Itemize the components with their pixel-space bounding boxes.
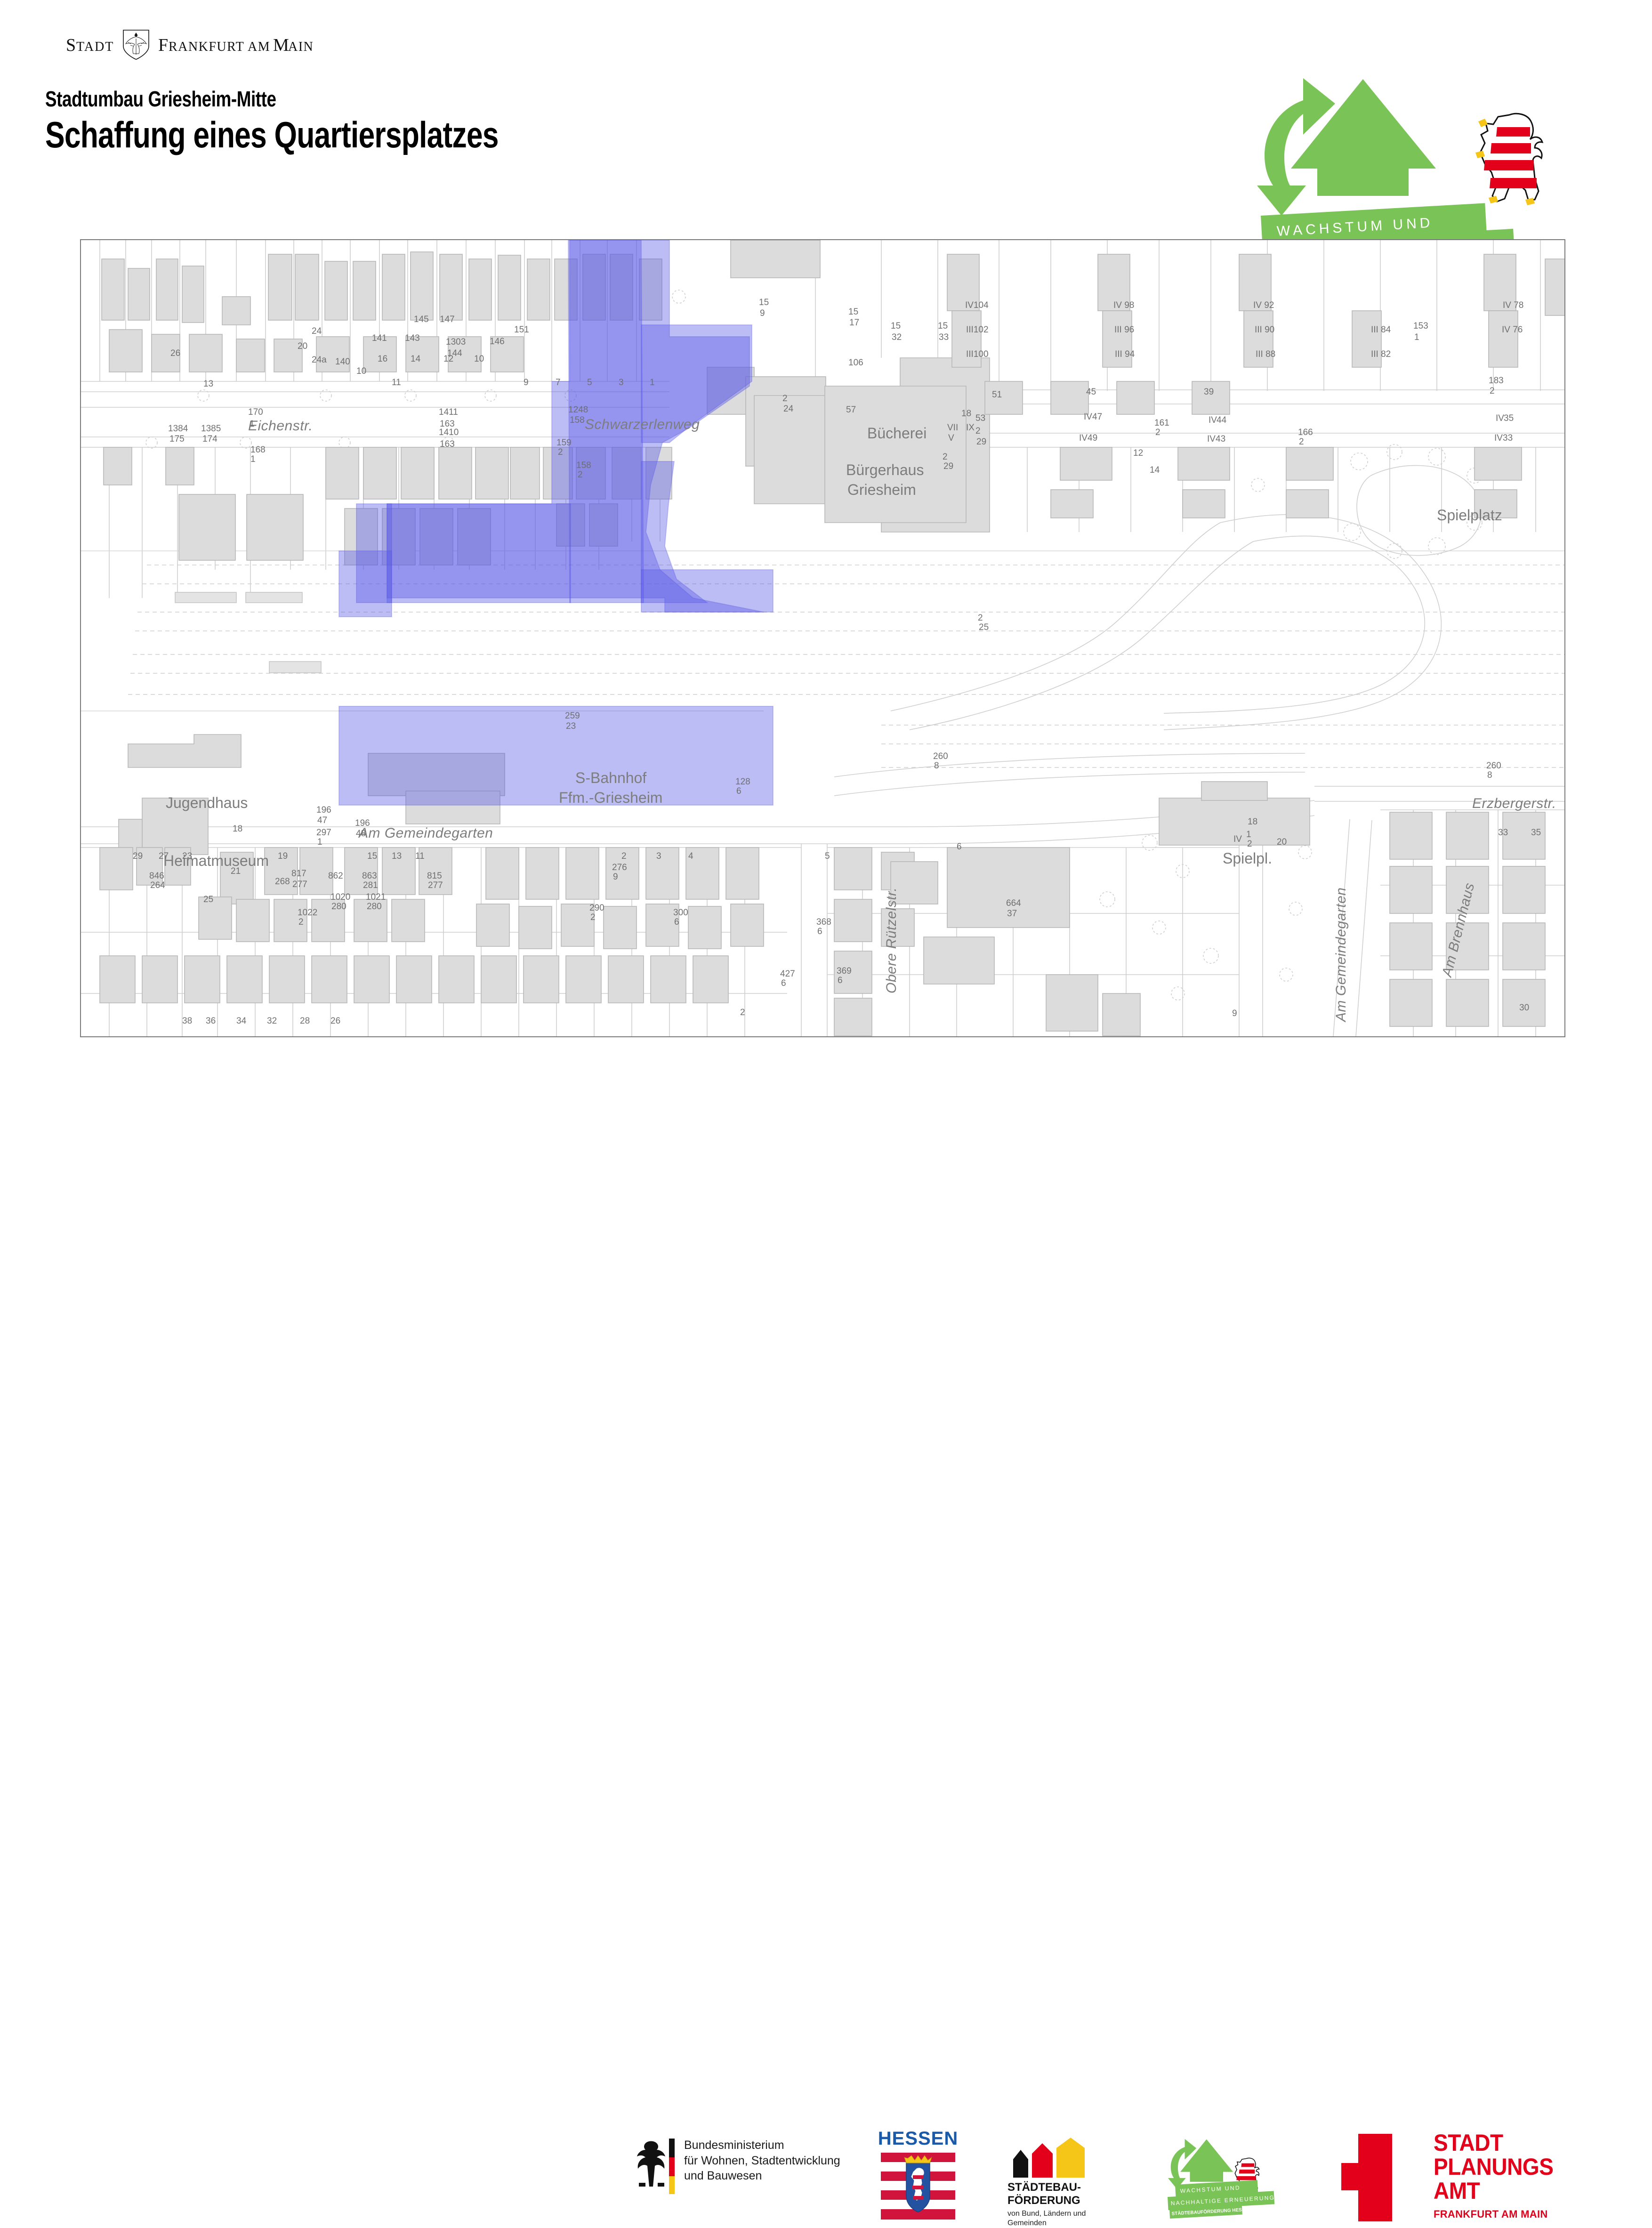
- parcel-number: 846: [149, 871, 164, 881]
- parcel-number: 18: [961, 409, 971, 419]
- cadastral-site-map[interactable]: Eichenstr. Schwarzerlenweg Am Gemeindega…: [80, 239, 1565, 1037]
- wachstum-erneuerung-logo-small: WACHSTUM UND NACHHALTIGE ERNEUERUNG STÄD…: [1158, 2138, 1299, 2222]
- parcel-number: IV104: [965, 300, 989, 311]
- parcel-number: 15: [367, 851, 377, 862]
- parcel-number: 7: [556, 378, 561, 388]
- parcel-number: 14: [411, 354, 420, 364]
- parcel-number: 18: [233, 824, 242, 834]
- parcel-number: 10: [356, 366, 366, 377]
- parcel-number: 16: [378, 354, 387, 364]
- parcel-number: 29: [976, 437, 986, 447]
- parcel-number: 1411: [439, 407, 458, 418]
- footer-logo-bar: Bundesministerium für Wohnen, Stadtentwi…: [0, 1063, 1652, 1168]
- stadtplanungsamt-logo: STADT PLANUNGS AMT FRANKFURT AM MAIN: [1339, 2133, 1584, 2222]
- parcel-number: IV: [1494, 433, 1503, 444]
- parcel-number: 36: [206, 1016, 216, 1026]
- parcel-number: 151: [514, 325, 529, 335]
- stadtplanungsamt-line3: AMT: [1434, 2179, 1553, 2203]
- bmwsb-logo: Bundesministerium für Wohnen, Stadtentwi…: [629, 2138, 892, 2199]
- title-block: Stadtumbau Griesheim-Mitte Schaffung ein…: [45, 88, 1081, 154]
- parcel-number: 20: [298, 341, 307, 352]
- parcel-number: 369: [837, 966, 852, 977]
- parcel-number: 2: [1155, 428, 1160, 438]
- parcel-number: 44: [1217, 415, 1226, 426]
- parcel-number: 141: [372, 333, 387, 344]
- parcel-number: 32: [267, 1016, 277, 1026]
- svg-text:RANKFURT: RANKFURT: [169, 40, 244, 54]
- staedtebau-sub1: von Bund, Ländern und: [1007, 2209, 1116, 2219]
- svg-text:AIN: AIN: [288, 40, 314, 54]
- parcel-number: 128: [735, 777, 750, 787]
- parcel-number: 24: [783, 404, 793, 414]
- parcel-number: 8: [1487, 770, 1492, 781]
- parcel-number: 9: [613, 872, 618, 882]
- parcel-number: 183: [1489, 376, 1504, 386]
- parcel-number: 2: [943, 452, 948, 462]
- stadtplanungsamt-subtitle: FRANKFURT AM MAIN: [1434, 2208, 1548, 2220]
- parcel-number: 170: [248, 407, 263, 418]
- parcel-number: 15: [891, 321, 901, 331]
- parcel-number: 146: [490, 337, 505, 347]
- parcel-number: 34: [236, 1016, 246, 1026]
- street-label-am-gemeindegarten: Am Gemeindegarten: [359, 825, 493, 841]
- parcel-number: 264: [150, 880, 165, 891]
- street-label-obere-ruetzelstr: Obere Rützelstr.: [884, 888, 900, 993]
- parcel-number: 1303: [446, 337, 466, 347]
- parcel-number: 153: [1413, 321, 1428, 331]
- parcel-number: 15: [938, 321, 948, 331]
- parcel-number: 277: [428, 880, 443, 891]
- parcel-number: 6: [736, 786, 741, 797]
- parcel-number: 2: [1299, 437, 1304, 447]
- parcel-number: 2: [1490, 386, 1495, 396]
- svg-text:M: M: [273, 35, 289, 55]
- parcel-number: 1384: [168, 424, 188, 434]
- street-label-erzbergerstr: Erzbergerstr.: [1472, 796, 1556, 812]
- recycle-arrow-and-house-icon: [1248, 74, 1445, 230]
- parcel-number: 20: [1277, 837, 1287, 848]
- parcel-number: 1: [250, 454, 256, 465]
- parcel-number: 2: [782, 394, 788, 404]
- parcel-number: 25: [203, 895, 213, 905]
- svg-text:F: F: [158, 35, 168, 55]
- staedtebau-title: STÄDTEBAU- FÖRDERUNG: [1007, 2181, 1116, 2208]
- staedtebau-sub2: Gemeinden: [1007, 2219, 1116, 2228]
- parcel-number: 1020: [330, 892, 350, 903]
- hessen-logo: HESSEN: [873, 2128, 963, 2222]
- parcel-number: 863: [362, 871, 377, 881]
- parcel-number: 15: [759, 298, 769, 308]
- poi-buergerhaus-griesheim: Griesheim: [847, 481, 916, 499]
- parcel-number: 49: [1088, 433, 1097, 444]
- parcel-number: 259: [565, 711, 580, 721]
- parcel-number: 161: [1154, 418, 1169, 428]
- parcel-number: 47: [1092, 412, 1102, 422]
- parcel-number: IV: [1079, 433, 1088, 444]
- parcel-number: IV: [1209, 415, 1217, 426]
- parcel-number: 166: [1298, 428, 1313, 438]
- parcel-number: 32: [892, 332, 902, 343]
- parcel-number: 17: [849, 318, 859, 328]
- bmwsb-line3: und Bauwesen: [684, 2168, 840, 2184]
- three-houses-icon: [1007, 2138, 1116, 2178]
- parcel-number: 43: [1216, 434, 1225, 444]
- wachstum-small-line3: STÄDTEBAUFÖRDERUNG HESSEN: [1171, 2207, 1242, 2216]
- parcel-number: 815: [427, 871, 442, 881]
- parcel-number: IV 78: [1503, 300, 1523, 311]
- parcel-number: 1: [250, 419, 255, 429]
- parcel-number: 9: [760, 308, 765, 319]
- parcel-number: 6: [838, 976, 843, 986]
- parcel-number: 147: [440, 315, 455, 325]
- parcel-number: 38: [182, 1016, 192, 1026]
- parcel-number: III 82: [1371, 349, 1391, 360]
- parcel-number: 48: [356, 829, 366, 839]
- parcel-number: 2: [558, 447, 563, 458]
- parcel-number: IV 76: [1502, 325, 1523, 335]
- parcel-number: 30: [1519, 1003, 1529, 1013]
- parcel-number: 29: [133, 851, 143, 862]
- street-label-am-gemeindegarten-vertical: Am Gemeindegarten: [1333, 888, 1349, 1022]
- staedtebau-subtitle: von Bund, Ländern und Gemeinden: [1007, 2209, 1116, 2228]
- parcel-number: 427: [780, 969, 795, 979]
- parcel-number: 1248: [568, 405, 588, 415]
- parcel-number: 5: [825, 851, 830, 862]
- parcel-number: 1410: [439, 428, 459, 438]
- parcel-number: 51: [992, 390, 1002, 400]
- parcel-number: IV 92: [1253, 300, 1274, 311]
- staedtebaufoerderung-logo: STÄDTEBAU- FÖRDERUNG von Bund, Ländern u…: [1007, 2138, 1116, 2225]
- parcel-number: 26: [330, 1016, 340, 1026]
- parcel-number: 1: [1246, 830, 1251, 840]
- parcel-number: 6: [957, 842, 962, 852]
- parcel-number: 12: [443, 354, 453, 364]
- parcel-number: 817: [291, 869, 306, 879]
- parcel-number: 33: [1503, 433, 1513, 444]
- parcel-number: 2: [740, 1008, 745, 1018]
- wachstum-small-line1: WACHSTUM UND: [1180, 2184, 1241, 2194]
- hessen-wordmark: HESSEN: [873, 2128, 963, 2149]
- parcel-number: 196: [316, 805, 331, 815]
- stadtplanungsamt-line1: STADT: [1434, 2131, 1553, 2155]
- page-title: Schaffung eines Quartiersplatzes: [45, 116, 874, 154]
- parcel-number: 12: [1133, 448, 1143, 459]
- parcel-number: 9: [524, 378, 529, 388]
- parcel-number: 47: [317, 815, 327, 826]
- parcel-number: 2: [590, 912, 596, 923]
- poi-heimatmuseum: Heimatmuseum: [163, 852, 269, 870]
- parcel-number: 45: [1086, 387, 1096, 397]
- parcel-number: III 88: [1256, 349, 1275, 360]
- parcel-number: III 96: [1114, 325, 1134, 335]
- parcel-number: 3: [619, 378, 624, 388]
- parcel-number: 297: [316, 828, 331, 838]
- svg-text:AM: AM: [248, 40, 270, 54]
- parcel-number: 15: [848, 307, 858, 317]
- staedtebau-line1: STÄDTEBAU-: [1007, 2181, 1116, 2194]
- parcel-number: 6: [817, 927, 822, 937]
- parcel-number: 2: [978, 613, 983, 623]
- parcel-number: 53: [975, 413, 985, 424]
- parcel-number: 27: [159, 851, 169, 862]
- parcel-number: 35: [1531, 828, 1541, 838]
- parcel-number: IV: [1207, 434, 1216, 444]
- parcel-number: 29: [943, 461, 953, 472]
- parcel-number: 5: [587, 378, 592, 388]
- bmwsb-line1: Bundesministerium: [684, 2138, 840, 2153]
- wachstum-small-line2: NACHHALTIGE ERNEUERUNG: [1170, 2194, 1274, 2206]
- federal-eagle-icon: [629, 2138, 680, 2194]
- parcel-number: 862: [328, 871, 343, 881]
- parcel-number: 175: [169, 434, 185, 444]
- parcel-number: 2: [1247, 839, 1252, 849]
- poi-buergerhaus: Bürgerhaus: [846, 461, 924, 479]
- parcel-number: VII: [947, 423, 958, 433]
- staedtebau-line2: FÖRDERUNG: [1007, 2194, 1116, 2207]
- parcel-number: 2: [298, 917, 304, 928]
- hessen-lion-icon: [1464, 107, 1549, 216]
- parcel-number: 145: [414, 315, 429, 325]
- parcel-number: 196: [355, 818, 370, 829]
- parcel-number: 276: [612, 863, 627, 873]
- parcel-number: 163: [440, 439, 455, 450]
- parcel-number: 277: [292, 880, 307, 890]
- parcel-number: V: [948, 433, 954, 444]
- parcel-number: 2: [975, 426, 981, 436]
- parcel-number: 168: [250, 445, 266, 455]
- svg-text:S: S: [66, 35, 76, 55]
- poi-ffm-griesheim: Ffm.-Griesheim: [559, 789, 662, 807]
- parcel-number: 57: [846, 405, 856, 415]
- poi-spielplatz: Spielplatz: [1437, 507, 1502, 524]
- parcel-number: 1: [650, 378, 655, 388]
- parcel-number: III102: [966, 325, 989, 335]
- parcel-number: 3: [656, 851, 661, 862]
- parcel-number: 1021: [366, 892, 386, 903]
- parcel-number: 2: [621, 851, 627, 862]
- stadtplanungsamt-mark-icon: [1339, 2133, 1410, 2222]
- parcel-number: 9: [1232, 1009, 1237, 1019]
- parcel-number: 6: [674, 917, 679, 928]
- parcel-number: 8: [934, 761, 939, 771]
- parcel-number: 368: [816, 917, 831, 928]
- parcel-number: 664: [1006, 898, 1021, 909]
- parcel-number: 260: [1486, 761, 1501, 771]
- poi-s-bahnhof: S-Bahnhof: [575, 769, 646, 787]
- parcel-number: 290: [589, 903, 604, 913]
- parcel-number: IX: [966, 423, 975, 433]
- parcel-number: 158: [576, 460, 591, 471]
- parcel-number: 106: [848, 358, 863, 368]
- street-label-schwarzerlenweg: Schwarzerlenweg: [585, 417, 700, 433]
- parcel-number: 13: [392, 851, 402, 862]
- parcel-number: 13: [203, 379, 213, 389]
- bmwsb-line2: für Wohnen, Stadtentwicklung: [684, 2153, 840, 2169]
- parcel-number: III100: [966, 349, 989, 360]
- parcel-number: 19: [278, 851, 288, 862]
- parcel-number: III 84: [1371, 325, 1391, 335]
- parcel-number: 140: [335, 357, 350, 367]
- parcel-number: 35: [1504, 413, 1514, 424]
- parcel-number: 1385: [201, 424, 221, 434]
- parcel-number: 268: [275, 877, 290, 887]
- parcel-number: IV: [1084, 412, 1092, 422]
- parcel-number: 260: [933, 751, 948, 762]
- parcel-number: 26: [170, 348, 180, 359]
- parcel-number: 1: [1414, 332, 1419, 343]
- parcel-number: III 94: [1115, 349, 1135, 360]
- parcel-number: 28: [300, 1016, 310, 1026]
- parcel-number: 18: [1248, 817, 1257, 827]
- parcel-number: 158: [570, 415, 585, 426]
- stadtplanungsamt-line2: PLANUNGS: [1434, 2155, 1553, 2179]
- parcel-number: 10: [474, 354, 484, 364]
- parcel-number: IV: [1496, 413, 1504, 424]
- parcel-number: III 90: [1255, 325, 1274, 335]
- parcel-number: 21: [231, 866, 241, 877]
- poi-buecherei: Bücherei: [867, 425, 927, 442]
- parcel-number: IV: [1233, 834, 1242, 845]
- parcel-number: 174: [202, 434, 218, 444]
- parcel-number: 11: [392, 378, 401, 388]
- parcel-number: 14: [1150, 465, 1160, 476]
- parcel-number: 4: [688, 851, 693, 862]
- parcel-number: 281: [363, 880, 378, 891]
- parcel-number: 11: [415, 851, 425, 862]
- parcel-number: 23: [566, 721, 576, 732]
- parcel-number: 1: [317, 837, 322, 848]
- city-of-frankfurt-logo: S TADT F RANKFURT AM M AIN: [66, 27, 367, 61]
- poi-spielpl: Spielpl.: [1223, 850, 1272, 867]
- parcel-number: 280: [367, 902, 382, 912]
- parcel-number: 37: [1007, 909, 1017, 919]
- parcel-number: 33: [1498, 828, 1508, 838]
- parcel-number: 33: [939, 332, 949, 343]
- parcel-number: 24a: [312, 355, 327, 365]
- parcel-number: IV 98: [1113, 300, 1134, 311]
- poi-jugendhaus: Jugendhaus: [166, 794, 248, 812]
- parcel-number: 159: [556, 438, 572, 448]
- project-subtitle: Stadtumbau Griesheim-Mitte: [45, 88, 874, 110]
- street-label-eichenstr: Eichenstr.: [248, 418, 313, 434]
- parcel-number: 39: [1204, 387, 1214, 397]
- parcel-number: 280: [331, 902, 347, 912]
- svg-text:TADT: TADT: [76, 40, 114, 54]
- hessen-flag-icon: [873, 2151, 963, 2221]
- bmwsb-text-block: Bundesministerium für Wohnen, Stadtentwi…: [684, 2138, 840, 2184]
- parcel-number: 6: [781, 978, 786, 989]
- parcel-number: 25: [979, 622, 989, 633]
- parcel-number: 2: [578, 470, 583, 480]
- parcel-number: 24: [312, 326, 322, 337]
- parcel-number: 143: [405, 333, 420, 344]
- parcel-number: 23: [182, 851, 192, 862]
- parcel-number: 1022: [298, 908, 317, 918]
- parcel-number: 300: [673, 908, 688, 918]
- stadtplanungsamt-wordmark: STADT PLANUNGS AMT: [1434, 2131, 1553, 2203]
